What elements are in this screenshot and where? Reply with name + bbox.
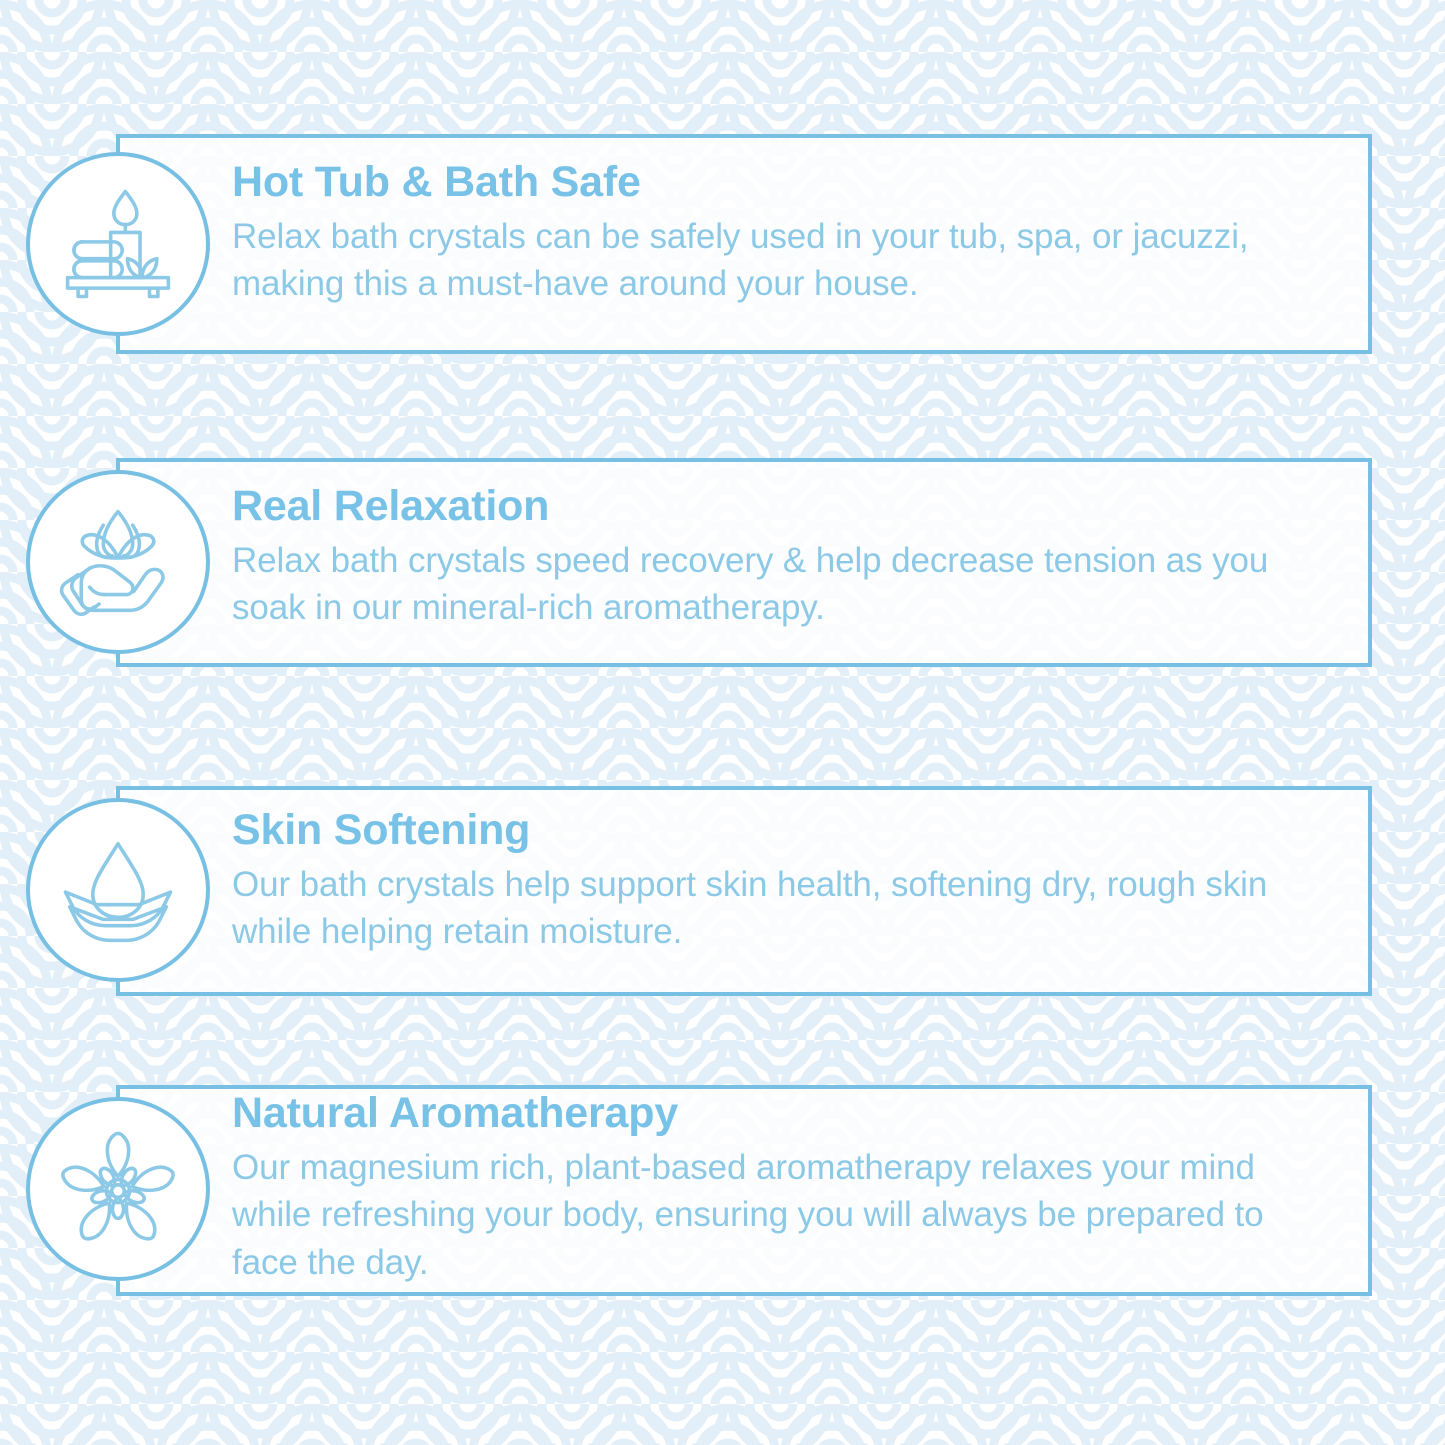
hand-holding-lotus-icon bbox=[26, 470, 210, 654]
feature-description: Relax bath crystals can be safely used i… bbox=[232, 213, 1335, 308]
feature-text-block: Skin Softening Our bath crystals help su… bbox=[232, 808, 1335, 956]
feature-list: Hot Tub & Bath Safe Relax bath crystals … bbox=[0, 0, 1445, 1445]
spa-candle-towels-icon bbox=[26, 152, 210, 336]
feature-description: Our bath crystals help support skin heal… bbox=[232, 861, 1335, 956]
feature-item-natural-aromatherapy: Natural Aromatherapy Our magnesium rich,… bbox=[0, 1085, 1445, 1296]
feature-title: Real Relaxation bbox=[232, 484, 1335, 529]
water-droplet-bowl-icon bbox=[26, 798, 210, 982]
feature-item-hot-tub-bath-safe: Hot Tub & Bath Safe Relax bath crystals … bbox=[0, 134, 1445, 354]
feature-item-real-relaxation: Real Relaxation Relax bath crystals spee… bbox=[0, 458, 1445, 667]
feature-title: Hot Tub & Bath Safe bbox=[232, 160, 1335, 205]
feature-item-skin-softening: Skin Softening Our bath crystals help su… bbox=[0, 786, 1445, 996]
feature-description: Our magnesium rich, plant-based aromathe… bbox=[232, 1144, 1335, 1286]
five-petal-flower-icon bbox=[26, 1097, 210, 1281]
feature-title: Natural Aromatherapy bbox=[232, 1091, 1335, 1136]
feature-text-block: Real Relaxation Relax bath crystals spee… bbox=[232, 484, 1335, 632]
feature-description: Relax bath crystals speed recovery & hel… bbox=[232, 537, 1335, 632]
feature-title: Skin Softening bbox=[232, 808, 1335, 853]
feature-text-block: Hot Tub & Bath Safe Relax bath crystals … bbox=[232, 160, 1335, 308]
feature-text-block: Natural Aromatherapy Our magnesium rich,… bbox=[232, 1091, 1335, 1286]
